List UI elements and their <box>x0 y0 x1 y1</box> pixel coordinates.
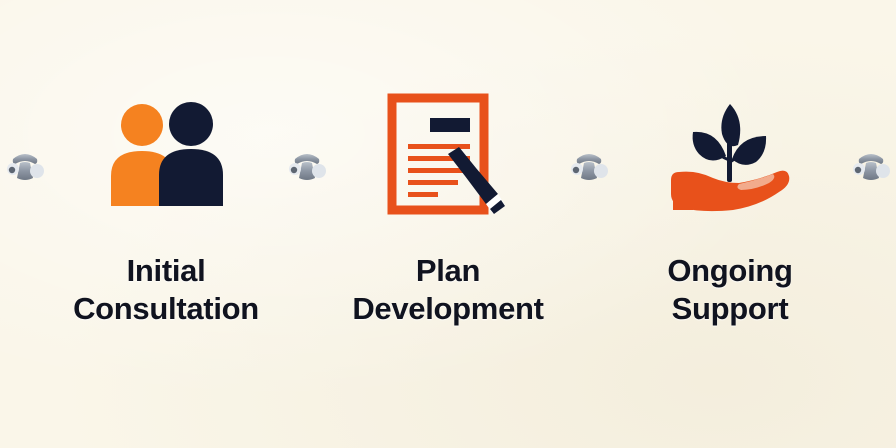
document-line <box>408 192 438 197</box>
document-line <box>408 180 458 185</box>
person-head-orange <box>121 104 163 146</box>
document-pencil-icon <box>383 94 513 218</box>
person-body-navy <box>159 149 223 206</box>
connector-glyph-icon <box>286 146 328 188</box>
connector-glyph-icon <box>568 146 610 188</box>
two-people-icon <box>101 94 231 218</box>
step-label-initial-consultation: Initial Consultation <box>48 252 284 328</box>
step-label-ongoing-support: Ongoing Support <box>612 252 848 328</box>
document-line <box>408 168 466 173</box>
connector-2 <box>284 0 330 448</box>
step-initial-consultation: Initial Consultation <box>48 0 284 448</box>
document-line <box>408 144 470 149</box>
step-plan-development: Plan Development <box>330 0 566 448</box>
step-ongoing-support: Ongoing Support <box>612 0 848 448</box>
connector-glyph-icon <box>850 146 892 188</box>
document-title-bar <box>430 118 470 132</box>
hand-plant-icon <box>665 94 795 218</box>
person-head-navy <box>169 102 213 146</box>
process-steps-row: Initial Consultation <box>0 0 896 448</box>
connector-1 <box>2 0 48 448</box>
plant-shape <box>693 104 766 182</box>
step-label-plan-development: Plan Development <box>330 252 566 328</box>
connector-3 <box>566 0 612 448</box>
connector-glyph-icon <box>4 146 46 188</box>
connector-4 <box>848 0 894 448</box>
process-infographic: Initial Consultation <box>0 0 896 448</box>
